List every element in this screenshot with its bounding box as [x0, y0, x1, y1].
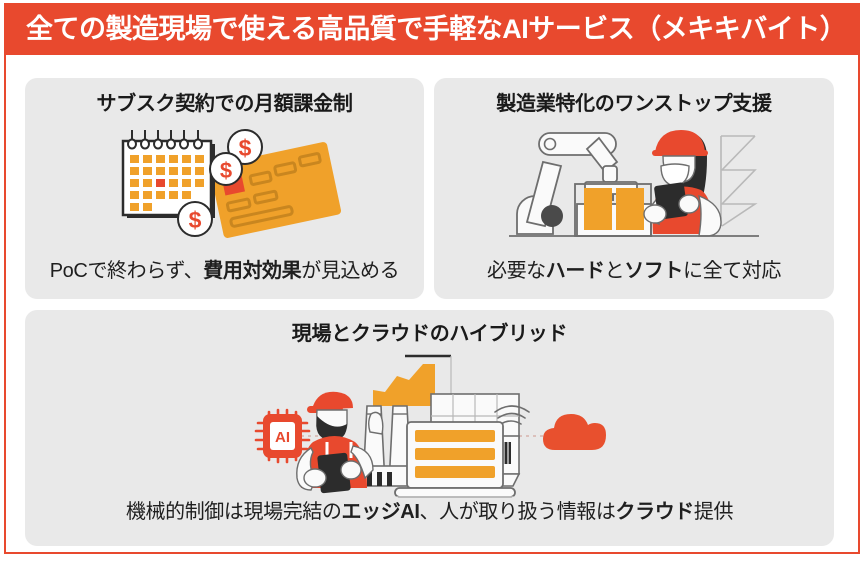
card-hybrid-title: 現場とクラウドのハイブリッド — [25, 322, 834, 346]
caption-bold-hardware: ハード — [546, 260, 605, 282]
caption-prefix: PoCで終わらず、 — [50, 260, 204, 282]
card-hybrid: 現場とクラウドのハイブリッド — [25, 310, 834, 546]
svg-text:AI: AI — [275, 429, 290, 446]
factory-edge-ai-cloud-illustration: AI — [25, 350, 834, 505]
calendar-credit-card-coins-illustration: $ $ $ — [25, 122, 424, 242]
caption-prefix: 機械的制御は現場完結の — [126, 501, 342, 523]
card-subscription: サブスク契約での月額課金制 — [25, 78, 424, 299]
slide-root: 全ての製造現場で使える高品質で手軽なAIサービス（メキキバイト） サブスク契約で… — [0, 0, 864, 562]
caption-mid: と — [605, 260, 625, 282]
caption-mid: 、人が取り扱う情報は — [420, 501, 616, 523]
cloud-icon — [543, 414, 606, 450]
caption-suffix: 提供 — [694, 501, 733, 523]
caption-bold-software: ソフト — [624, 260, 683, 282]
caption-suffix: に全て対応 — [683, 260, 781, 282]
page-title: 全ての製造現場で使える高品質で手軽なAIサービス（メキキバイト） — [26, 16, 846, 43]
ai-chip-icon: AI — [256, 410, 309, 462]
svg-text:$: $ — [238, 135, 251, 161]
svg-text:$: $ — [188, 207, 201, 233]
caption-suffix: が見込める — [301, 260, 399, 282]
card-subscription-title: サブスク契約での月額課金制 — [25, 92, 424, 116]
card-subscription-caption: PoCで終わらず、費用対効果が見込める — [25, 259, 424, 283]
caption-bold-cloud: クラウド — [616, 501, 694, 523]
caption-prefix: 必要な — [487, 260, 546, 282]
robot-arm-worker-tablet-illustration — [434, 122, 834, 244]
card-onestop-caption: 必要なハードとソフトに全て対応 — [434, 259, 834, 283]
header-band: 全ての製造現場で使える高品質で手軽なAIサービス（メキキバイト） — [4, 3, 860, 55]
svg-text:$: $ — [219, 158, 231, 183]
caption-bold-edge-ai: エッジAI — [342, 501, 420, 523]
card-onestop-title: 製造業特化のワンストップ支援 — [434, 92, 834, 116]
caption-bold: 費用対効果 — [203, 260, 301, 282]
card-onestop: 製造業特化のワンストップ支援 — [434, 78, 834, 299]
card-hybrid-caption: 機械的制御は現場完結のエッジAI、人が取り扱う情報はクラウド提供 — [25, 500, 834, 524]
